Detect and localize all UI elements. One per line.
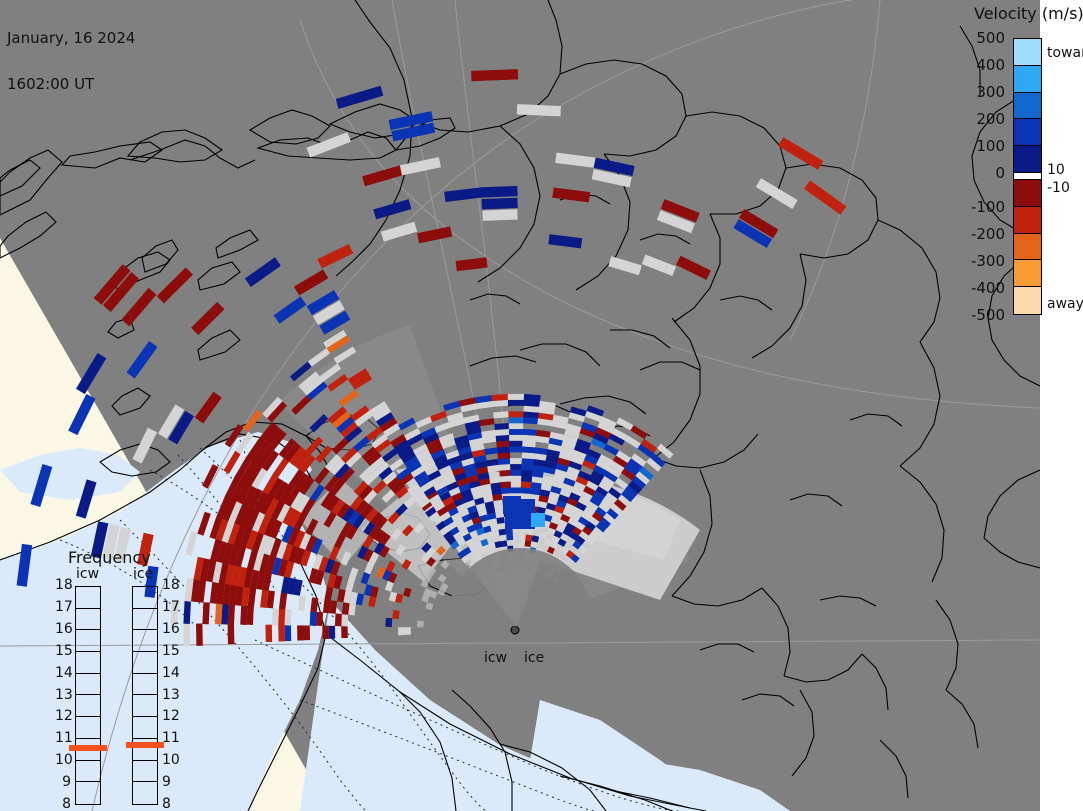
velocity-cell [495,429,509,436]
velocity-cell [501,481,512,488]
velocity-cell [526,528,534,535]
frequency-cell [133,587,157,609]
velocity-zero-upper-label: 10 [1047,162,1065,178]
velocity-cell [508,394,525,400]
velocity-tick-100: 100 [976,137,1005,155]
velocity-cell [221,604,228,625]
frequency-tick-right-15: 15 [162,643,180,659]
velocity-cell [278,625,285,642]
timestamp-title: January, 16 2024 1602:00 UT [7,1,135,122]
radar-site-markers [511,626,519,634]
frequency-cell [76,630,100,652]
frequency-cell [76,717,100,739]
velocity-zero-lower-label: -10 [1047,180,1070,196]
velocity-color-band-6 [1014,180,1041,207]
velocity-cell [303,625,310,640]
velocity-cell [329,626,336,639]
title-time: 1602:00 UT [7,77,135,93]
velocity-cell [523,429,537,436]
frequency-marker-icw [69,745,107,751]
velocity-cell [498,458,510,465]
velocity-tick--300: -300 [971,252,1005,270]
frequency-tick-left-8: 8 [55,796,71,811]
velocity-cell [509,423,523,429]
frequency-col-label-icw: icw [76,566,99,582]
velocity-tick-400: 400 [976,56,1005,74]
velocity-cell [510,464,522,470]
frequency-tick-right-9: 9 [162,774,171,790]
frequency-cell [76,761,100,783]
velocity-cell [521,470,532,477]
velocity-cell [510,446,523,452]
frequency-cell [133,630,157,652]
velocity-color-band-5 [1014,173,1041,180]
velocity-cell [228,624,235,644]
velocity-cell [322,626,329,639]
velocity-cell [501,487,511,494]
frequency-tick-left-15: 15 [55,643,71,659]
velocity-cell [498,523,506,530]
velocity-cell [341,614,348,626]
velocity-cell [525,540,532,547]
velocity-cell [519,540,526,546]
velocity-cell [509,435,523,441]
frequency-tick-left-11: 11 [55,730,71,746]
frequency-tick-left-13: 13 [55,687,71,703]
velocity-colorbar[interactable] [1013,38,1042,315]
velocity-cell [524,394,541,401]
frequency-tick-left-18: 18 [55,577,71,593]
velocity-tick-200: 200 [976,110,1005,128]
velocity-cell [521,487,531,494]
velocity-cell [521,476,532,483]
velocity-cell [335,614,342,627]
velocity-legend-title: Velocity (m/s) [974,4,1083,23]
velocity-cell [496,441,510,448]
frequency-tick-left-14: 14 [55,665,71,681]
frequency-tick-right-16: 16 [162,621,180,637]
velocity-cell [522,440,536,447]
velocity-cell [525,534,532,541]
velocity-cell [508,400,524,406]
site-label-ice: ice [524,650,544,666]
velocity-cell [509,417,524,423]
velocity-cell [531,513,545,527]
frequency-marker-ice [126,742,164,748]
velocity-cell [284,609,291,625]
velocity-cell [522,452,535,459]
frequency-bar-ice[interactable] [132,586,158,805]
frequency-cell [133,717,157,739]
velocity-cell [510,470,521,476]
frequency-tick-right-17: 17 [162,599,180,615]
velocity-cell [522,458,534,465]
velocity-color-band-8 [1014,234,1041,261]
velocity-cell [517,104,561,116]
velocity-cell [272,608,279,625]
velocity-cell [522,435,536,442]
velocity-cell [297,625,304,640]
site-label-icw: icw [484,650,507,666]
velocity-cell [471,69,518,81]
frequency-cell [76,609,100,631]
velocity-cell [247,606,254,625]
velocity-cell [500,534,507,541]
velocity-cell [499,470,510,477]
frequency-tick-left-10: 10 [55,752,71,768]
velocity-cell [310,611,317,626]
velocity-cell [493,411,509,418]
title-date: January, 16 2024 [7,31,135,47]
frequency-tick-left-17: 17 [55,599,71,615]
velocity-cell [417,621,424,628]
velocity-cell [392,610,399,619]
frequency-cell [76,674,100,696]
frequency-legend: Frequency icw ice 18171615141312111098 1… [55,548,215,788]
velocity-color-band-9 [1014,260,1041,287]
velocity-tick-0: 0 [995,164,1005,182]
velocity-tick--100: -100 [971,198,1005,216]
velocity-cell [497,446,510,453]
velocity-cell [511,481,521,487]
velocity-cell [505,528,512,534]
velocity-cell [494,423,509,430]
velocity-cell [510,458,522,464]
frequency-cell [76,695,100,717]
velocity-cell [278,609,285,626]
velocity-cell [398,627,405,635]
velocity-toward-label: toward [1047,45,1083,61]
velocity-cell [509,429,523,435]
frequency-tick-left-12: 12 [55,708,71,724]
velocity-tick--500: -500 [971,306,1005,324]
frequency-tick-left-16: 16 [55,621,71,637]
velocity-cell [385,618,392,627]
velocity-tick-500: 500 [976,29,1005,47]
velocity-cell [265,625,272,642]
velocity-tick--200: -200 [971,225,1005,243]
velocity-color-band-3 [1014,119,1041,146]
velocity-away-label: away [1047,296,1083,312]
velocity-cell [240,606,247,625]
velocity-cell [521,481,532,488]
velocity-cell [522,446,535,453]
frequency-cell [133,609,157,631]
velocity-color-band-0 [1014,39,1041,66]
velocity-color-band-10 [1014,287,1041,314]
velocity-color-band-7 [1014,207,1041,234]
frequency-tick-right-8: 8 [162,796,171,811]
velocity-tick--400: -400 [971,279,1005,297]
frequency-cell [76,782,100,804]
velocity-cell [508,411,523,417]
velocity-cell [491,394,508,401]
frequency-tick-left-9: 9 [55,774,71,790]
frequency-tick-right-14: 14 [162,665,180,681]
frequency-tick-right-10: 10 [162,752,180,768]
velocity-cell [285,625,292,641]
frequency-cell [133,695,157,717]
velocity-cell [506,534,513,540]
frequency-legend-title: Frequency [68,548,151,567]
velocity-cell [482,198,518,210]
velocity-cell [521,464,533,471]
velocity-color-band-4 [1014,146,1041,173]
velocity-cell [503,496,521,514]
velocity-color-band-1 [1014,66,1041,93]
velocity-cell [496,517,505,524]
frequency-tick-right-11: 11 [162,730,180,746]
velocity-cell [509,441,522,447]
frequency-cell [133,761,157,783]
frequency-col-label-ice: ice [133,566,153,582]
velocity-cell [481,186,518,198]
velocity-color-band-2 [1014,93,1041,120]
velocity-cell [501,540,508,547]
velocity-legend: Velocity (m/s) 5004003002001000-100-200-… [952,2,1083,332]
velocity-tick-300: 300 [976,83,1005,101]
velocity-cell [498,452,511,459]
frequency-cell [133,674,157,696]
velocity-cell [316,612,323,626]
map-canvas[interactable]: January, 16 2024 1602:00 UT icw ice Freq… [0,0,1040,811]
velocity-cell [523,417,538,424]
velocity-cell [499,464,511,471]
velocity-cell [215,603,222,624]
velocity-cell [228,604,235,624]
frequency-bar-icw[interactable] [75,586,101,805]
velocity-cell [404,627,411,635]
velocity-cell [511,487,521,493]
velocity-cell [341,626,348,638]
frequency-tick-right-12: 12 [162,708,180,724]
screenshot-root: January, 16 2024 1602:00 UT icw ice Freq… [0,0,1083,811]
velocity-cell [482,209,517,221]
frequency-tick-right-13: 13 [162,687,180,703]
velocity-cell [519,534,526,540]
velocity-cell [496,435,510,442]
frequency-cell [76,652,100,674]
frequency-cell [133,652,157,674]
frequency-cell [76,587,100,609]
velocity-cell [511,476,522,482]
frequency-cell [133,782,157,804]
frequency-tick-right-18: 18 [162,577,180,593]
